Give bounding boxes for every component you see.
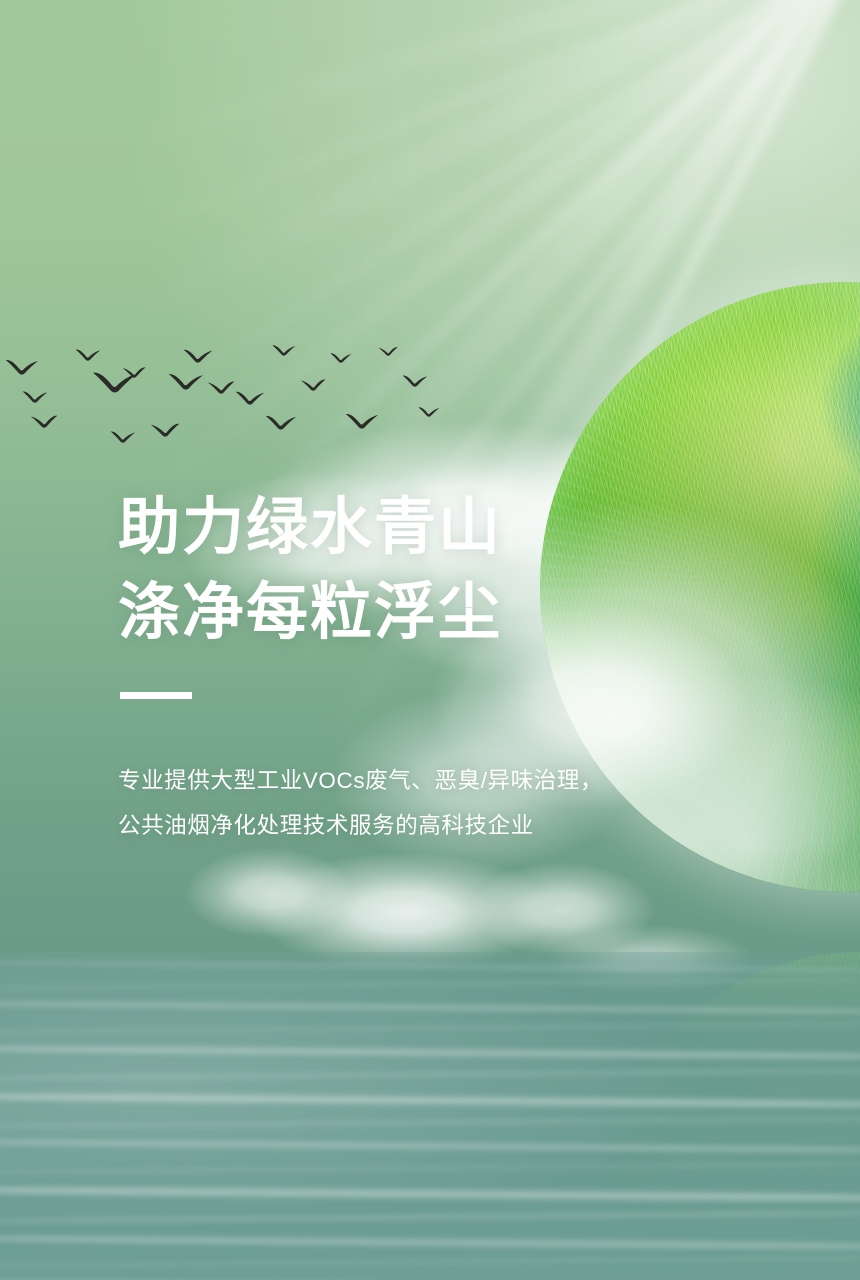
eco-banner: 助力绿水青山 涤净每粒浮尘 专业提供大型工业VOCs废气、恶臭/异味治理， 公共… — [0, 0, 860, 1280]
subtitle-line-1: 专业提供大型工业VOCs废气、恶臭/异味治理， — [118, 770, 603, 793]
headline-line-1: 助力绿水青山 — [118, 497, 502, 559]
headline-line-2: 涤净每粒浮尘 — [118, 582, 502, 644]
subtitle-line-2: 公共油烟净化处理技术服务的高科技企业 — [118, 815, 534, 838]
headline-divider — [120, 692, 192, 699]
copy-block: 助力绿水青山 涤净每粒浮尘 专业提供大型工业VOCs废气、恶臭/异味治理， 公共… — [0, 0, 860, 1280]
